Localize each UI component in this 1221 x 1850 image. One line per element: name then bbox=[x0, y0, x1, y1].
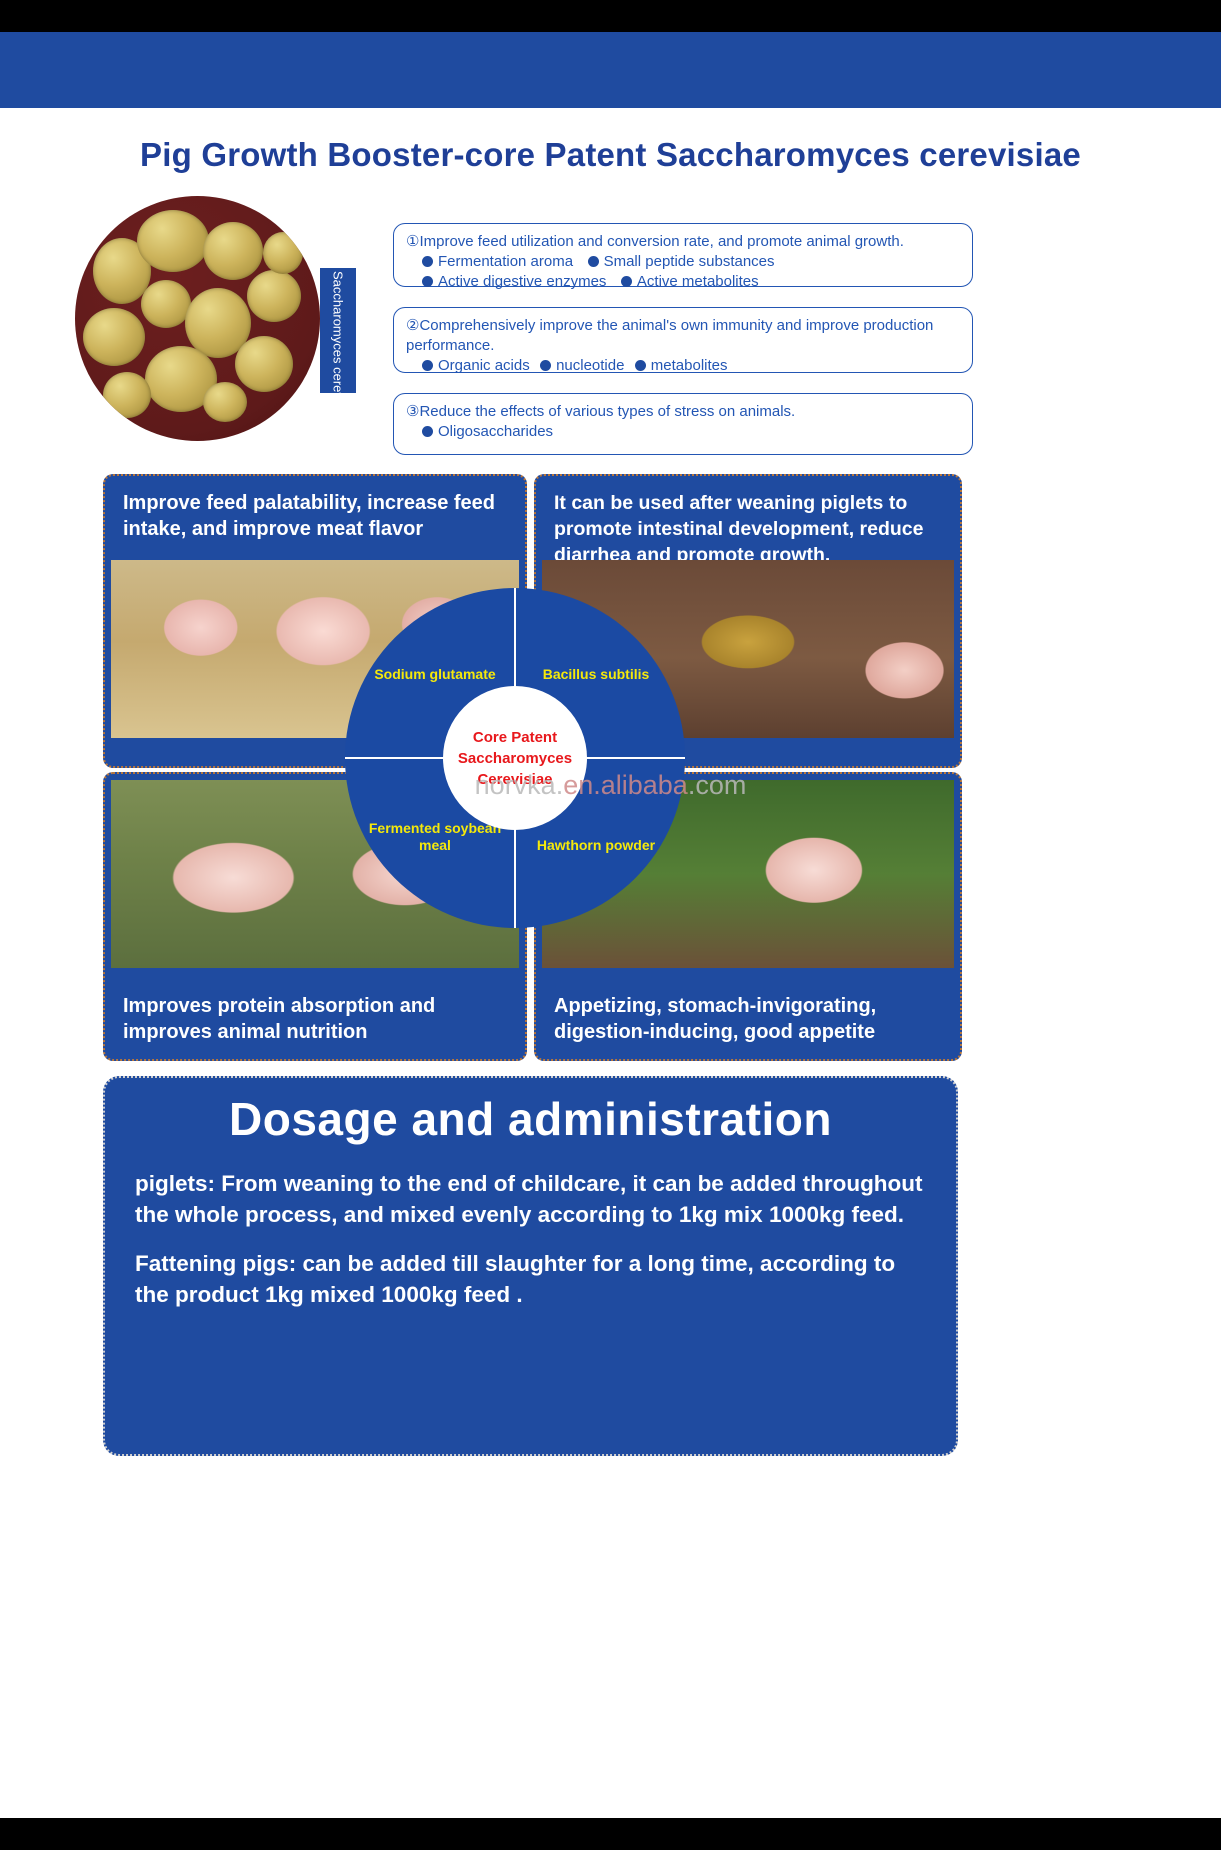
feature-box-3: ③Reduce the effects of various types of … bbox=[393, 393, 973, 455]
dosage-paragraph-2: Fattening pigs: can be added till slaugh… bbox=[105, 1230, 956, 1310]
yeast-micrograph bbox=[75, 196, 320, 441]
benefit-card-3-caption: Improves protein absorption and improves… bbox=[105, 979, 525, 1059]
feature-3-number: ③ bbox=[406, 403, 419, 420]
infographic-page: Pig Growth Booster-core Patent Saccharom… bbox=[0, 0, 1221, 1850]
header-blue-band bbox=[0, 32, 1221, 108]
dosage-heading: Dosage and administration bbox=[105, 1078, 956, 1150]
feature-box-2: ②Comprehensively improve the animal's ow… bbox=[393, 307, 973, 373]
feature-1-bullet-1: Fermentation aroma bbox=[438, 253, 573, 270]
feature-3-line: ③Reduce the effects of various types of … bbox=[406, 402, 960, 422]
feature-1-bullet-2: Small peptide substances bbox=[604, 253, 775, 270]
feature-1-number: ① bbox=[406, 233, 419, 250]
bullet-dot-icon bbox=[422, 360, 433, 371]
feature-1-bullet-4: Active metabolites bbox=[637, 273, 759, 290]
wheel-segment-fermented-soybean-meal: Fermented soybean meal bbox=[360, 820, 510, 854]
bullet-dot-icon bbox=[588, 256, 599, 267]
feature-3-bullets-row: Oligosaccharides bbox=[406, 422, 960, 442]
yeast-vertical-label-text: Saccharomyces cerevisiae bbox=[331, 271, 346, 391]
top-black-band bbox=[0, 0, 1221, 32]
bullet-dot-icon bbox=[422, 426, 433, 437]
bullet-dot-icon bbox=[621, 276, 632, 287]
bullet-dot-icon bbox=[422, 276, 433, 287]
feature-box-1: ①Improve feed utilization and conversion… bbox=[393, 223, 973, 287]
feature-2-bullets-row: Organic acids nucleotide metabolites bbox=[406, 356, 960, 376]
wheel-segment-sodium-glutamate: Sodium glutamate bbox=[360, 666, 510, 683]
wheel-segment-bacillus-subtilis: Bacillus subtilis bbox=[521, 666, 671, 683]
bullet-dot-icon bbox=[635, 360, 646, 371]
bullet-dot-icon bbox=[422, 256, 433, 267]
wheel-hub: Core Patent Saccharomyces Cerevisiae bbox=[443, 686, 587, 830]
dosage-panel: Dosage and administration piglets: From … bbox=[103, 1076, 958, 1456]
bottom-black-band bbox=[0, 1818, 1221, 1850]
feature-1-bullets-row-1: Fermentation aroma Small peptide substan… bbox=[406, 252, 960, 272]
feature-3-text: Reduce the effects of various types of s… bbox=[419, 403, 795, 420]
feature-2-text: Comprehensively improve the animal's own… bbox=[406, 317, 933, 354]
wheel-segment-hawthorn-powder: Hawthorn powder bbox=[521, 837, 671, 854]
feature-1-bullets-row-2: Active digestive enzymes Active metaboli… bbox=[406, 272, 960, 292]
feature-1-text: Improve feed utilization and conversion … bbox=[419, 233, 903, 250]
feature-3-bullet-1: Oligosaccharides bbox=[438, 423, 553, 440]
feature-2-bullet-1: Organic acids bbox=[438, 357, 530, 374]
yeast-vertical-label: Saccharomyces cerevisiae bbox=[320, 268, 356, 393]
feature-1-line: ①Improve feed utilization and conversion… bbox=[406, 232, 960, 252]
benefit-card-1-caption: Improve feed palatability, increase feed… bbox=[105, 476, 525, 556]
dosage-paragraph-1: piglets: From weaning to the end of chil… bbox=[105, 1150, 956, 1230]
feature-2-line: ②Comprehensively improve the animal's ow… bbox=[406, 316, 960, 356]
benefit-card-4-caption: Appetizing, stomach-invigorating, digest… bbox=[536, 979, 960, 1059]
core-patent-wheel: Sodium glutamate Bacillus subtilis Ferme… bbox=[345, 588, 685, 928]
feature-2-number: ② bbox=[406, 317, 419, 334]
feature-2-bullet-2: nucleotide bbox=[556, 357, 624, 374]
feature-1-bullet-3: Active digestive enzymes bbox=[438, 273, 606, 290]
page-title: Pig Growth Booster-core Patent Saccharom… bbox=[0, 136, 1221, 174]
feature-2-bullet-3: metabolites bbox=[651, 357, 728, 374]
bullet-dot-icon bbox=[540, 360, 551, 371]
wheel-hub-text: Core Patent Saccharomyces Cerevisiae bbox=[443, 727, 587, 790]
